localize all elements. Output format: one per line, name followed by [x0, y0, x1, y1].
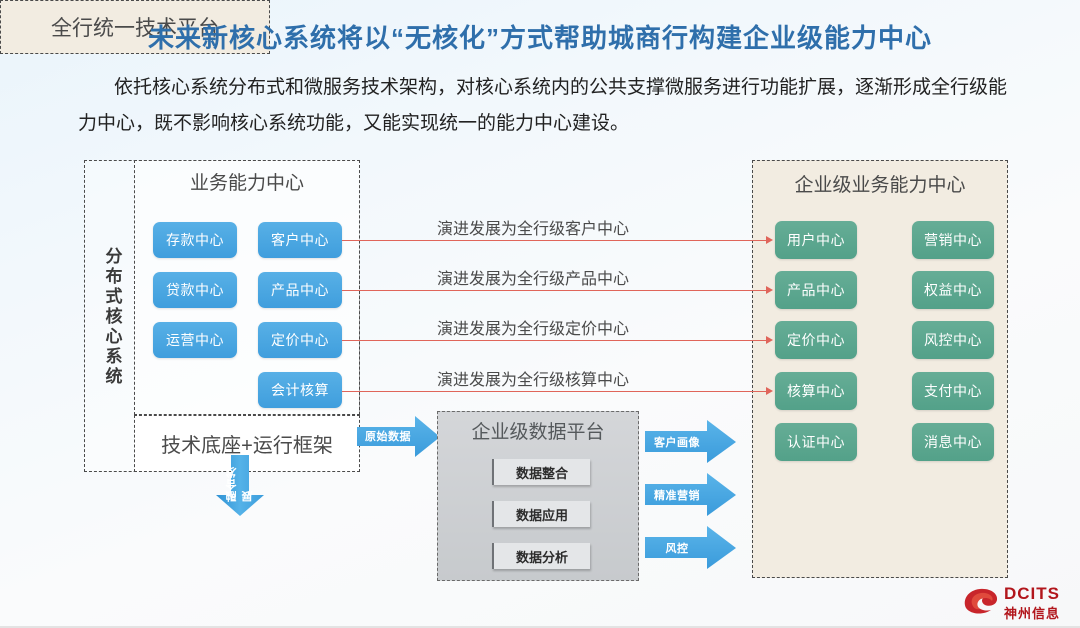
page-title: 未来新核心系统将以“无核化”方式帮助城商行构建企业级能力中心: [0, 18, 1080, 55]
core-box-loan[interactable]: 贷款中心: [153, 272, 237, 308]
chevron-label-risk-control: 风控: [648, 539, 706, 557]
ent-box-rights[interactable]: 权益中心: [912, 271, 994, 309]
evolution-arrowhead-3: [766, 336, 773, 344]
enterprise-data-platform-title: 企业级数据平台: [437, 417, 639, 444]
ent-box-marketing[interactable]: 营销中心: [912, 221, 994, 259]
evolution-arrowhead-4: [766, 387, 773, 395]
data-platform-item-analysis[interactable]: 数据分析: [492, 543, 590, 569]
evolution-label-4: 演进发展为全行级核算中心: [437, 366, 629, 390]
evolution-label-3: 演进发展为全行级定价中心: [437, 315, 629, 339]
chevron-label-precision-marketing: 精准营销: [648, 486, 706, 504]
ent-box-risk[interactable]: 风控中心: [912, 321, 994, 359]
raw-data-arrow-label: 原始数据: [360, 427, 416, 445]
chevron-label-customer-profile: 客户画像: [648, 433, 706, 451]
ent-box-product[interactable]: 产品中心: [775, 271, 857, 309]
evolution-label-1: 演进发展为全行级客户中心: [437, 215, 629, 239]
merge-development-arrow-label: 融合发展: [214, 458, 266, 502]
core-box-customer[interactable]: 客户中心: [258, 222, 342, 258]
ent-box-authentication[interactable]: 认证中心: [775, 423, 857, 461]
core-box-product[interactable]: 产品中心: [258, 272, 342, 308]
logo-text-en: DCITS: [1004, 584, 1060, 604]
evolution-line-2: [342, 290, 766, 291]
evolution-arrowhead-2: [766, 286, 773, 294]
evolution-line-3: [342, 340, 766, 341]
evolution-label-2: 演进发展为全行级产品中心: [437, 265, 629, 289]
page-subtitle: 依托核心系统分布式和微服务技术架构，对核心系统内的公共支撑微服务进行功能扩展，逐…: [78, 70, 1008, 142]
slide-canvas: 未来新核心系统将以“无核化”方式帮助城商行构建企业级能力中心 依托核心系统分布式…: [0, 0, 1080, 628]
ent-box-message[interactable]: 消息中心: [912, 423, 994, 461]
core-box-operation[interactable]: 运营中心: [153, 322, 237, 358]
data-platform-item-integration[interactable]: 数据整合: [492, 459, 590, 485]
logo-text-cn: 神州信息: [1004, 603, 1060, 622]
data-platform-item-application[interactable]: 数据应用: [492, 501, 590, 527]
evolution-line-4: [342, 391, 766, 392]
core-box-deposit[interactable]: 存款中心: [153, 222, 237, 258]
evolution-arrowhead-1: [766, 236, 773, 244]
business-capability-center-title: 业务能力中心: [134, 168, 360, 195]
ent-box-user[interactable]: 用户中心: [775, 221, 857, 259]
enterprise-capability-title: 企业级业务能力中心: [752, 170, 1008, 197]
evolution-line-1: [342, 240, 766, 241]
ent-box-pricing[interactable]: 定价中心: [775, 321, 857, 359]
core-box-pricing[interactable]: 定价中心: [258, 322, 342, 358]
ent-box-payment[interactable]: 支付中心: [912, 372, 994, 410]
ent-box-accounting[interactable]: 核算中心: [775, 372, 857, 410]
core-box-accounting[interactable]: 会计核算: [258, 372, 342, 408]
core-system-vertical-label: 分布式核心系统: [95, 212, 129, 422]
